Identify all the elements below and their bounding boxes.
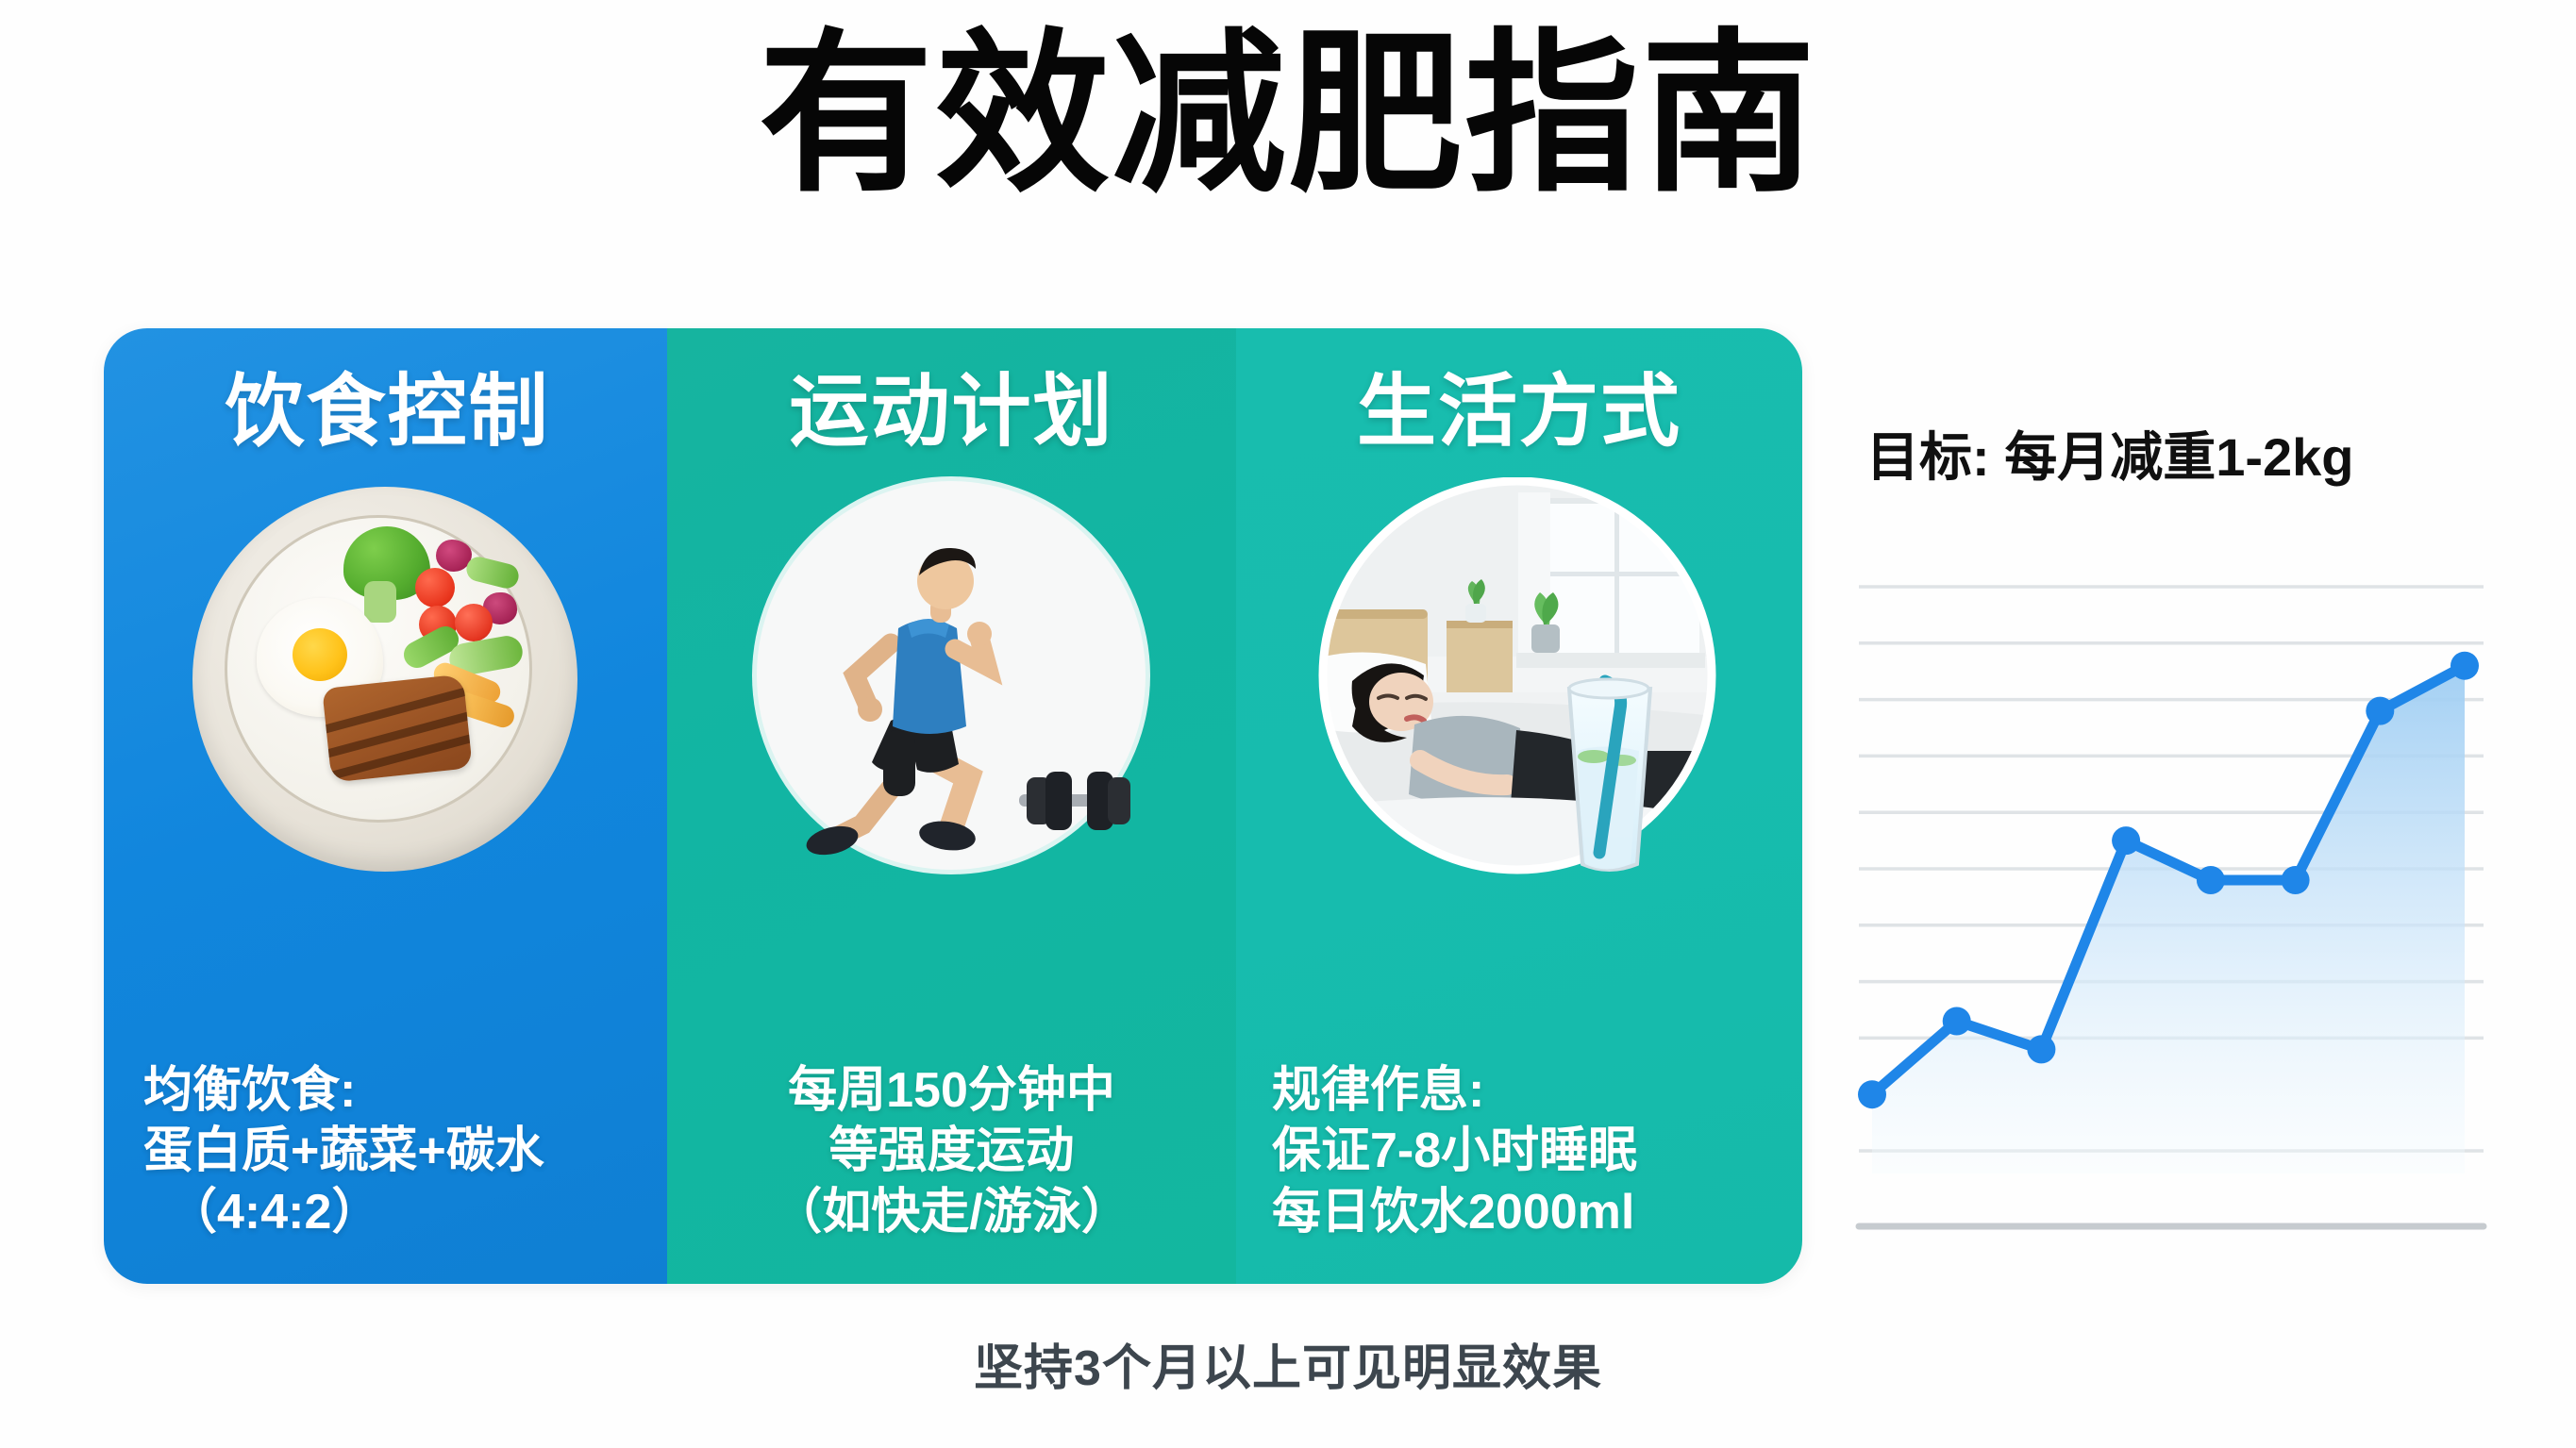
- panel-body-line: 规律作息:: [1272, 1060, 1802, 1121]
- panel-body-lifestyle: 规律作息: 保证7-8小时睡眠 每日饮水2000ml: [1236, 1060, 1802, 1242]
- sleeping-woman-with-water-glass-photo: [1316, 477, 1722, 883]
- chart-data-point[interactable]: [2197, 866, 2225, 894]
- panel-diet-control[interactable]: 饮食控制 均衡饮食: 蛋白质+蔬菜+碳: [104, 328, 667, 1284]
- infographic-canvas: 有效减肥指南 饮食控制: [0, 0, 2576, 1448]
- chart-title: 目标: 每月减重1-2kg: [1866, 415, 2354, 491]
- panel-body-line: 每日饮水2000ml: [1272, 1182, 1802, 1242]
- panel-title-lifestyle: 生活方式: [1236, 370, 1802, 453]
- panel-lifestyle[interactable]: 生活方式: [1236, 328, 1802, 1284]
- panel-title-exercise: 运动计划: [667, 370, 1236, 453]
- chart-data-point[interactable]: [2366, 697, 2394, 725]
- chart-data-point[interactable]: [1858, 1080, 1886, 1108]
- chart-data-point[interactable]: [2282, 866, 2310, 894]
- panel-title-diet: 饮食控制: [108, 370, 667, 453]
- panel-body-diet: 均衡饮食: 蛋白质+蔬菜+碳水 （4:4:2）: [104, 1060, 667, 1242]
- chart-area-fill: [1872, 666, 2465, 1173]
- panel-body-line: 蛋白质+蔬菜+碳水: [143, 1121, 667, 1181]
- panel-body-line: （4:4:2）: [143, 1182, 667, 1242]
- water-glass-icon: [1569, 679, 1650, 870]
- weight-loss-line-chart[interactable]: [1849, 555, 2510, 1234]
- panel-exercise-plan[interactable]: 运动计划: [667, 328, 1236, 1284]
- bedroom-illustration: [1316, 477, 1722, 883]
- panel-body-line: 等强度运动: [667, 1121, 1236, 1181]
- panel-body-exercise: 每周150分钟中 等强度运动 （如快走/游泳）: [667, 1060, 1236, 1242]
- panel-body-line: 保证7-8小时睡眠: [1272, 1121, 1802, 1181]
- runner-with-dumbbell-photo: [749, 477, 1155, 883]
- footer-note: 坚持3个月以上可见明显效果: [0, 1328, 2576, 1399]
- balanced-meal-plate-photo: [183, 477, 589, 883]
- cherry-tomato-icon: [415, 568, 455, 607]
- panel-body-line: 每周150分钟中: [667, 1060, 1236, 1121]
- chart-data-point[interactable]: [1943, 1007, 1971, 1036]
- progress-chart-panel: 目标: 每月减重1-2kg: [1849, 394, 2510, 1234]
- grilled-meat-icon: [322, 674, 473, 783]
- panel-body-line: （如快走/游泳）: [667, 1182, 1236, 1242]
- runner-illustration: [749, 477, 1155, 883]
- fried-egg-yolk: [293, 628, 347, 681]
- page-title: 有效减肥指南: [0, 28, 2576, 203]
- cherry-tomato-icon: [455, 604, 493, 641]
- three-panel-card: 饮食控制 均衡饮食: 蛋白质+蔬菜+碳: [104, 328, 1802, 1284]
- panel-body-line: 均衡饮食:: [143, 1060, 667, 1121]
- chart-data-point[interactable]: [2451, 652, 2479, 680]
- chart-data-point[interactable]: [2112, 826, 2140, 855]
- chart-data-point[interactable]: [2027, 1035, 2055, 1063]
